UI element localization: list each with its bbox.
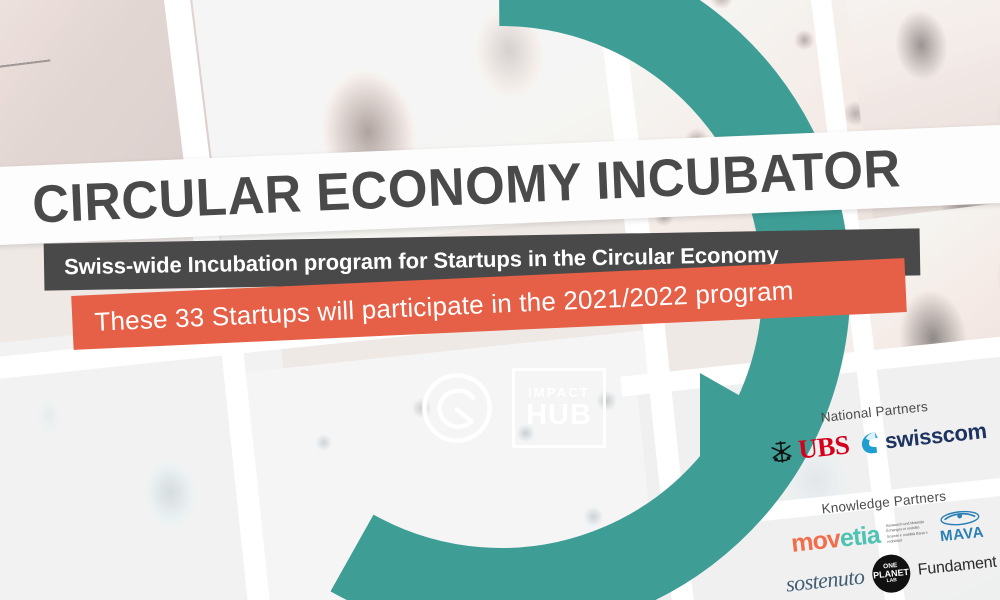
impact-hub-logo: IMPACT HUB [420, 368, 606, 448]
partner-logo-fundament: Fundament [917, 554, 998, 580]
partner-logo-ubs: UBS [767, 429, 851, 468]
partners-panel: National Partners UBS [746, 391, 1000, 600]
impact-hub-line2: HUB [526, 401, 592, 430]
partner-logo-mava: MAVA [938, 508, 985, 545]
partner-logo-sostenuto: sostenuto [785, 564, 866, 598]
impact-hub-spiral-icon [420, 371, 494, 445]
one-planet-lab-line3: LAB [886, 578, 897, 584]
ubs-wordmark: UBS [797, 429, 851, 465]
swisscom-wordmark: swisscom [884, 417, 988, 454]
mava-wordmark: MAVA [939, 524, 984, 546]
impact-hub-line1: IMPACT [528, 386, 590, 399]
partner-logo-one-planet-lab: ONE PLANET LAB [870, 553, 912, 595]
poster-canvas: IMPACT HUB CIRCULAR ECONOMY INCUBATOR Sw… [0, 0, 1000, 600]
swisscom-lifeform-icon [858, 430, 882, 456]
movetia-part1: mov [790, 525, 842, 558]
ubs-keys-icon [767, 438, 794, 465]
movetia-tagline: Austausch und Mobilität Échanges et mobi… [886, 519, 934, 545]
movetia-part2: etia [839, 521, 882, 553]
partner-logo-swisscom: swisscom [858, 417, 988, 456]
impact-hub-wordmark: IMPACT HUB [512, 368, 606, 448]
partner-logo-movetia: movetia [790, 521, 881, 559]
